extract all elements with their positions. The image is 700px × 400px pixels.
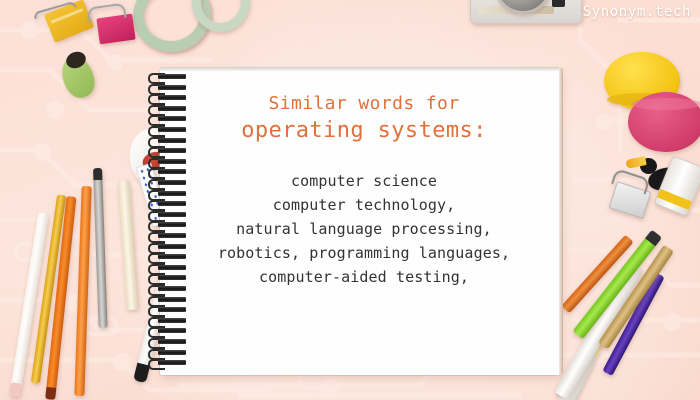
spiral-ring-bar [158,74,186,79]
screenshot-root: Similar words for operating systems: com… [0,0,700,400]
spiral-ring [148,244,188,249]
list-item: natural language processing, [190,217,538,241]
spiral-ring [148,85,188,90]
spiral-ring [148,212,188,217]
spiral-notebook: Similar words for operating systems: com… [160,70,560,375]
spiral-ring [148,180,188,185]
spiral-ring-bar [158,222,186,227]
spiral-ring-bar [158,233,186,238]
spiral-ring [148,265,188,270]
spiral-ring [148,159,188,164]
spiral-ring-bar [158,116,186,121]
spiral-ring-bar [158,265,186,270]
spiral-ring [148,275,188,280]
spiral-ring [148,318,188,323]
spiral-ring-bar [158,201,186,206]
spiral-ring [148,148,188,153]
spiral-ring-bar [158,180,186,185]
spiral-ring [148,360,188,365]
list-item: computer-aided testing, [190,265,538,289]
spiral-ring [148,297,188,302]
spiral-ring-bar [158,254,186,259]
spiral-ring [148,95,188,100]
spiral-ring-bar [158,95,186,100]
spiral-ring [148,116,188,121]
macaron-pink-icon [628,92,700,152]
spiral-ring-bar [158,106,186,111]
spiral-ring [148,339,188,344]
spiral-ring-bar [158,127,186,132]
list-item: computer science [190,169,538,193]
spiral-ring [148,191,188,196]
spiral-ring-bar [158,169,186,174]
notebook-page: Similar words for operating systems: com… [160,70,560,375]
spiral-ring [148,74,188,79]
spiral-ring-bar [158,339,186,344]
spiral-ring [148,328,188,333]
spiral-ring [148,106,188,111]
spiral-ring [148,127,188,132]
spiral-ring-bar [158,138,186,143]
spiral-ring-bar [158,286,186,291]
spiral-ring [148,138,188,143]
page-title: Similar words for operating systems: [190,92,538,145]
spiral-ring-bar [158,360,186,365]
spiral-ring [148,201,188,206]
spiral-ring [148,254,188,259]
watermark: Synonym.tech [583,4,691,20]
spiral-ring-bar [158,350,186,355]
spiral-ring-bar [158,148,186,153]
page-content: Similar words for operating systems: com… [190,70,538,289]
page-right-edge [559,68,563,374]
camera-dial-icon [552,0,565,7]
spiral-binding [148,74,190,374]
spiral-ring-bar [158,191,186,196]
spiral-ring [148,222,188,227]
spiral-ring-bar [158,85,186,90]
spiral-ring-bar [158,318,186,323]
spiral-ring [148,307,188,312]
spiral-ring-bar [158,159,186,164]
title-line-1: Similar words for [190,92,538,116]
spiral-ring-bar [158,307,186,312]
spiral-ring-bar [158,212,186,217]
spiral-ring [148,350,188,355]
spiral-ring [148,233,188,238]
spiral-ring-bar [158,297,186,302]
spiral-ring-bar [158,244,186,249]
spiral-ring-bar [158,328,186,333]
title-line-2: operating systems: [190,116,538,145]
binder-clip-pink-icon [96,14,135,45]
list-item: robotics, programming languages, [190,241,538,265]
spiral-ring [148,169,188,174]
list-item: computer technology, [190,193,538,217]
spiral-ring [148,286,188,291]
synonym-list: computer science computer technology, na… [190,169,538,289]
spiral-ring-bar [158,275,186,280]
